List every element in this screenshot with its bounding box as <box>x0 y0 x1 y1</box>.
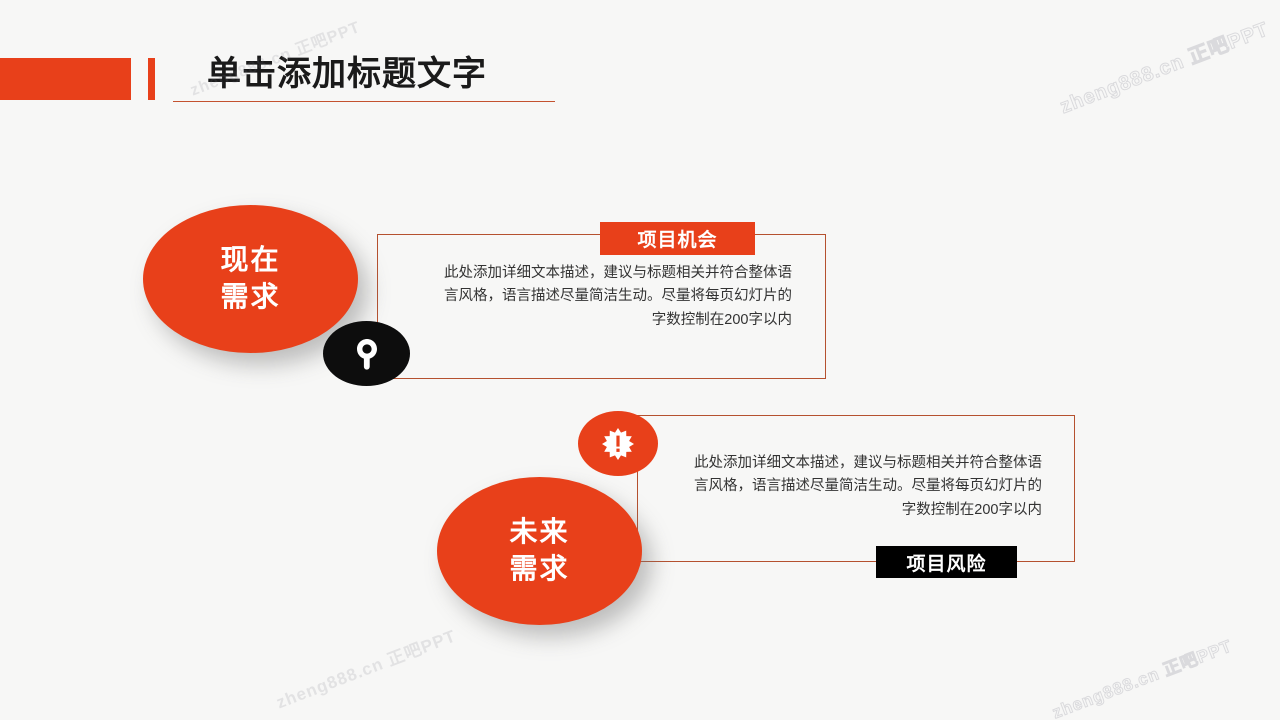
body-text-risk: 此处添加详细文本描述，建议与标题相关并符合整体语言风格，语言描述尽量简洁生动。尽… <box>690 452 1042 522</box>
watermark-top-right: zheng888.cn 正吧PPT <box>1055 13 1272 119</box>
key-icon[interactable] <box>323 321 410 386</box>
watermark-bottom-left: zheng888.cn 正吧PPT <box>272 622 459 714</box>
chip-opportunity-label: 项目机会 <box>637 225 717 252</box>
ellipse-future-demand[interactable]: 未来 需求 <box>437 477 642 625</box>
chip-risk[interactable]: 项目风险 <box>876 546 1017 578</box>
ellipse-future-demand-label: 未来 需求 <box>509 514 569 588</box>
slide-canvas: 单击添加标题文字 现在 需求 项目机会 此处添加详细文本描述，建议与标题相关并符… <box>0 0 1280 720</box>
header-accent-block <box>0 58 131 100</box>
title-underline <box>173 101 555 102</box>
page-title: 单击添加标题文字 <box>207 52 487 96</box>
body-text-opportunity: 此处添加详细文本描述，建议与标题相关并符合整体语言风格，语言描述尽量简洁生动。尽… <box>440 262 792 332</box>
watermark-bottom-right: zheng888.cn 正吧PPT <box>1048 632 1235 720</box>
alert-burst-icon[interactable] <box>578 411 658 476</box>
ellipse-current-demand-label: 现在 需求 <box>220 242 280 316</box>
ellipse-current-demand[interactable]: 现在 需求 <box>143 205 358 353</box>
chip-risk-label: 项目风险 <box>906 549 986 576</box>
header-accent-tick <box>148 58 155 100</box>
chip-opportunity[interactable]: 项目机会 <box>600 222 755 255</box>
